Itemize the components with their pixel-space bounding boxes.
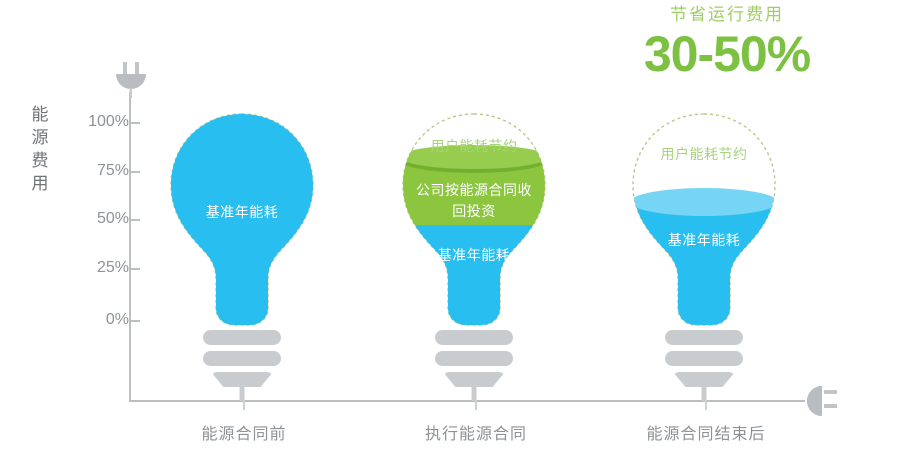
bulb-shape-2 [400,112,548,327]
bulb-thread [665,330,743,345]
bulb-stem [472,385,477,401]
plug-icon [800,382,840,420]
bulb-stem [240,385,245,401]
header-subtitle: 节省运行费用 [602,4,852,26]
y-axis-title: 能 源 费 用 [28,104,52,196]
bulb-thread [203,351,281,366]
bulb-after-contract: 用户能耗节约 基准年能耗 [630,112,778,327]
bulb-base-1 [203,330,281,398]
bulb-shape-3 [630,112,778,327]
bulb-tip-holder [435,372,513,398]
bulb-shape-1 [168,112,316,327]
bulb-tip-holder [203,372,281,398]
y-tick-label-50: 50% [67,210,129,228]
bulb-tip-holder [665,372,743,398]
x-category-label-0: 能源合同前 [144,420,344,444]
y-tick-mark-0 [129,320,140,322]
bulb-during-contract: 用户能耗节约 公司按能源合同收回投资 基准年能耗 [400,112,548,327]
y-axis-line [129,92,131,402]
y-tick-label-25: 25% [67,259,129,277]
bulb-base-2 [435,330,513,398]
y-tick-label-100: 100% [67,113,129,131]
header-headline: 30-50% [602,28,852,81]
bulb-thread [435,351,513,366]
y-axis-title-char-0: 能 [28,104,52,127]
y-tick-mark-100 [129,122,140,124]
y-tick-mark-50 [129,219,140,221]
y-axis-title-char-3: 用 [28,173,52,196]
plug-icon [114,62,148,98]
x-tick-mark-1 [475,400,477,410]
bulb-before-contract: 基准年能耗 [168,112,316,327]
x-tick-mark-0 [243,400,245,410]
bulb-base-3 [665,330,743,398]
bulb-thread [203,330,281,345]
x-tick-mark-2 [705,400,707,410]
bulb-thread [665,351,743,366]
infographic-canvas: 节省运行费用 30-50% 能 源 费 用 100% 75% 50% 25% 0… [0,0,900,473]
y-tick-mark-75 [129,171,140,173]
y-tick-label-0: 0% [67,311,129,329]
bulb-thread [435,330,513,345]
x-category-label-2: 能源合同结束后 [606,420,806,444]
header-callout: 节省运行费用 30-50% [602,4,852,81]
y-axis-title-char-1: 源 [28,127,52,150]
y-tick-label-75: 75% [67,162,129,180]
y-axis-title-char-2: 费 [28,150,52,173]
y-tick-mark-25 [129,268,140,270]
bulb-stem [702,385,707,401]
x-category-label-1: 执行能源合同 [376,420,576,444]
